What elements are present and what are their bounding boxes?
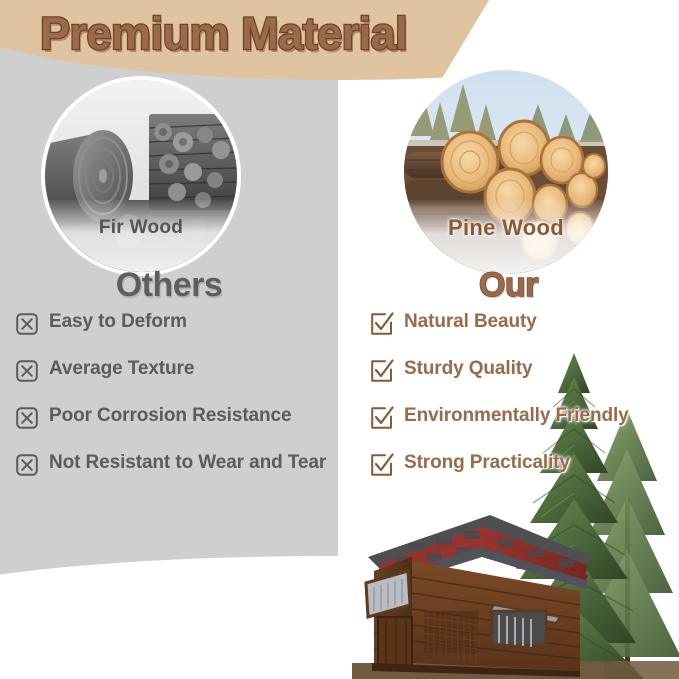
list-item-label: Environmentally Friendly <box>404 405 629 427</box>
our-heading: Our <box>338 266 679 305</box>
check-mark-icon <box>371 407 393 429</box>
list-item: Not Resistant to Wear and Tear <box>16 452 346 476</box>
our-feature-list: Natural Beauty Sturdy Quality Environmen… <box>371 311 679 499</box>
list-item-label: Sturdy Quality <box>404 358 532 380</box>
list-item-label: Strong Practicality <box>404 452 570 474</box>
list-item-label: Natural Beauty <box>404 311 537 333</box>
pine-wood-photo: Pine Wood <box>404 70 608 274</box>
list-item: Strong Practicality <box>371 452 679 476</box>
x-mark-icon <box>16 454 38 476</box>
list-item: Environmentally Friendly <box>371 405 679 429</box>
list-item: Natural Beauty <box>371 311 679 335</box>
list-item-label: Poor Corrosion Resistance <box>49 405 291 427</box>
others-heading: Others <box>0 266 338 305</box>
fir-wood-photo: Fir Wood <box>45 80 237 272</box>
fir-wood-caption: Fir Wood <box>45 200 237 272</box>
list-item-label: Average Texture <box>49 358 194 380</box>
list-item: Poor Corrosion Resistance <box>16 405 346 429</box>
x-mark-icon <box>16 313 38 335</box>
wooden-chicken-coop-photo <box>352 499 604 679</box>
pine-wood-caption: Pine Wood <box>404 200 608 274</box>
page-title: Premium Material <box>40 8 407 60</box>
check-mark-icon <box>371 313 393 335</box>
others-feature-list: Easy to Deform Average Texture Poor Corr… <box>16 311 346 499</box>
promo-graphic: Premium Material <box>0 0 679 679</box>
list-item-label: Not Resistant to Wear and Tear <box>49 452 326 474</box>
list-item-label: Easy to Deform <box>49 311 187 333</box>
list-item: Sturdy Quality <box>371 358 679 382</box>
check-mark-icon <box>371 454 393 476</box>
list-item: Average Texture <box>16 358 346 382</box>
x-mark-icon <box>16 360 38 382</box>
check-mark-icon <box>371 360 393 382</box>
list-item: Easy to Deform <box>16 311 346 335</box>
x-mark-icon <box>16 407 38 429</box>
